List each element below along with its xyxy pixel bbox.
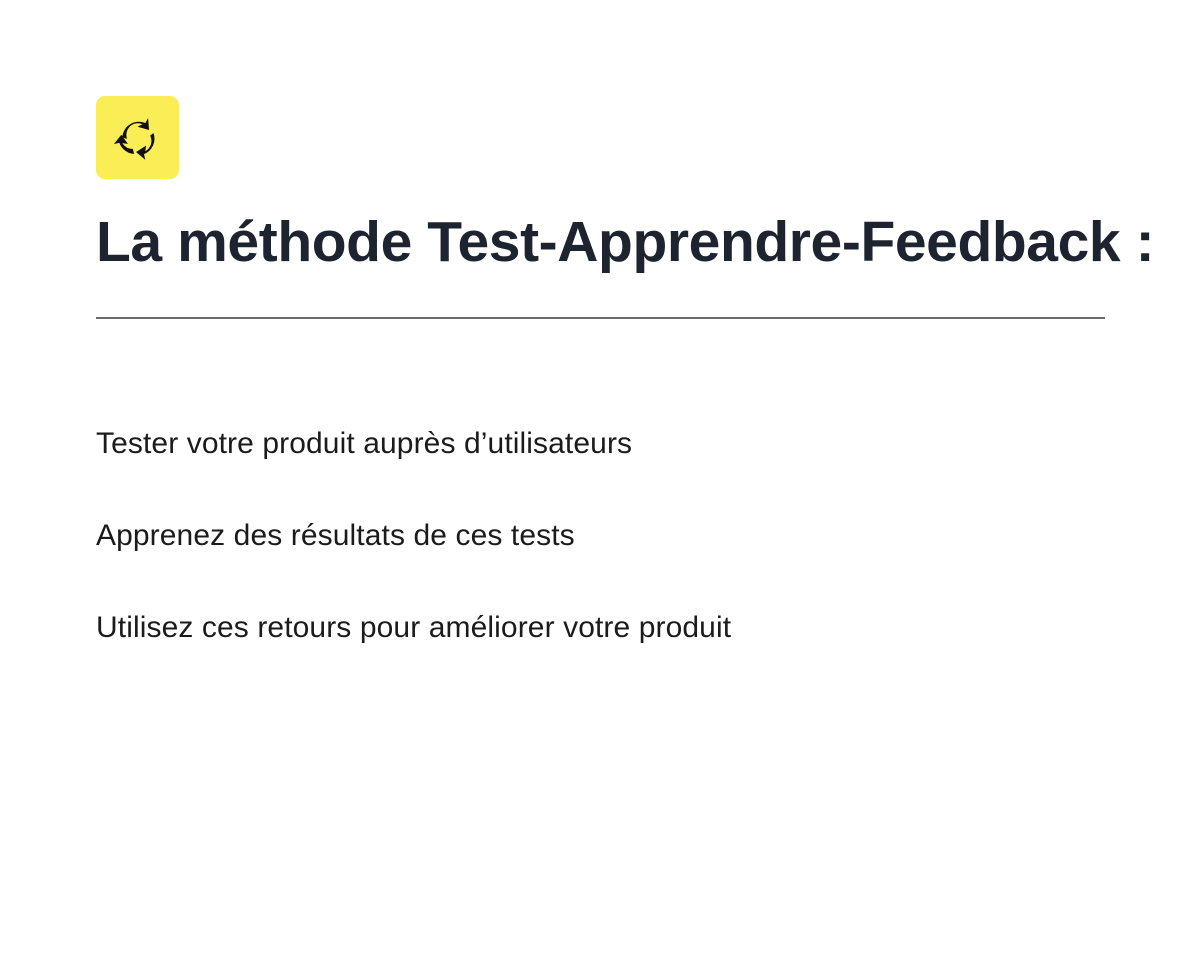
list-item: Apprenez des résultats de ces tests bbox=[96, 516, 1116, 556]
slide-root: La méthode Test-Apprendre-Feedback : Tes… bbox=[0, 0, 1200, 973]
recycle-loop-icon-badge bbox=[96, 96, 179, 179]
title-divider bbox=[96, 317, 1105, 319]
list-item: Utilisez ces retours pour améliorer votr… bbox=[96, 608, 1116, 648]
page-title: La méthode Test-Apprendre-Feedback : bbox=[96, 210, 1156, 275]
list-item: Tester votre produit auprès d’utilisateu… bbox=[96, 424, 1116, 464]
method-steps-list: Tester votre produit auprès d’utilisateu… bbox=[96, 424, 1116, 648]
recycle-loop-icon bbox=[112, 112, 164, 164]
